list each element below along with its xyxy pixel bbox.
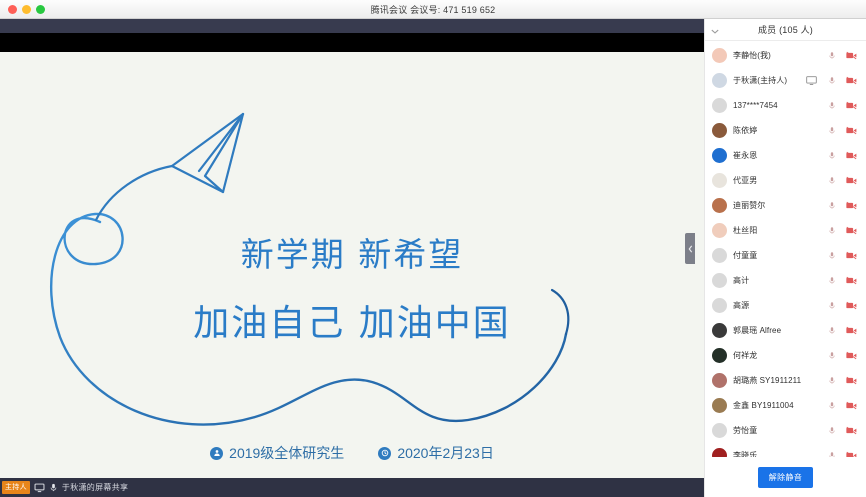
camera-off-icon[interactable] bbox=[846, 125, 857, 136]
camera-off-icon[interactable] bbox=[846, 325, 857, 336]
participant-row[interactable]: 陈依婷 bbox=[705, 118, 866, 143]
microphone-icon bbox=[49, 482, 58, 493]
participant-actions bbox=[826, 300, 860, 311]
participant-row[interactable]: 李晓乐 bbox=[705, 443, 866, 457]
participant-row[interactable]: 劳怡童 bbox=[705, 418, 866, 443]
avatar bbox=[712, 448, 727, 457]
avatar bbox=[712, 148, 727, 163]
paper-plane-icon bbox=[172, 114, 243, 192]
participant-name: 胡璐燕 SY1911211 bbox=[733, 375, 826, 386]
camera-off-icon[interactable] bbox=[846, 375, 857, 386]
participant-name: 付童童 bbox=[733, 250, 826, 261]
participant-actions bbox=[826, 350, 860, 361]
camera-off-icon[interactable] bbox=[846, 300, 857, 311]
participant-name: 于秋潇(主持人) bbox=[733, 75, 806, 86]
participant-actions bbox=[826, 400, 860, 411]
microphone-muted-icon[interactable] bbox=[826, 250, 837, 261]
microphone-muted-icon[interactable] bbox=[826, 200, 837, 211]
avatar bbox=[712, 323, 727, 338]
participant-row[interactable]: 高源 bbox=[705, 293, 866, 318]
share-status-label: 于秋潇的屏幕共享 bbox=[62, 482, 128, 493]
participant-name: 代亚男 bbox=[733, 175, 826, 186]
participant-actions bbox=[826, 125, 860, 136]
participant-name: 高源 bbox=[733, 300, 826, 311]
microphone-muted-icon[interactable] bbox=[826, 100, 837, 111]
participant-actions bbox=[826, 375, 860, 386]
participant-name: 金鑫 BY1911004 bbox=[733, 400, 826, 411]
participant-actions bbox=[806, 75, 860, 86]
participant-actions bbox=[826, 100, 860, 111]
microphone-muted-icon[interactable] bbox=[826, 225, 837, 236]
chevron-down-icon[interactable] bbox=[711, 21, 719, 39]
microphone-muted-icon[interactable] bbox=[826, 125, 837, 136]
share-status-bar: 主持人 于秋潇的屏幕共享 bbox=[0, 478, 704, 497]
avatar bbox=[712, 398, 727, 413]
chevron-left-icon bbox=[688, 245, 693, 253]
video-stage: 新学期 新希望 加油自己 加油中国 2019级全体研究生 bbox=[0, 19, 704, 497]
slide-footer-audience-text: 2019级全体研究生 bbox=[229, 443, 344, 463]
slide-footer-date-text: 2020年2月23日 bbox=[397, 443, 494, 463]
camera-off-icon[interactable] bbox=[846, 50, 857, 61]
monitor-icon bbox=[34, 482, 45, 493]
microphone-muted-icon[interactable] bbox=[826, 150, 837, 161]
participant-row[interactable]: 金鑫 BY1911004 bbox=[705, 393, 866, 418]
participant-actions bbox=[826, 200, 860, 211]
avatar bbox=[712, 423, 727, 438]
microphone-muted-icon[interactable] bbox=[826, 50, 837, 61]
camera-off-icon[interactable] bbox=[846, 75, 857, 86]
participant-actions bbox=[826, 250, 860, 261]
participant-actions bbox=[826, 225, 860, 236]
camera-off-icon[interactable] bbox=[846, 350, 857, 361]
participant-actions bbox=[826, 175, 860, 186]
camera-off-icon[interactable] bbox=[846, 450, 857, 457]
monitor-icon[interactable] bbox=[806, 75, 817, 86]
participant-row[interactable]: 代亚男 bbox=[705, 168, 866, 193]
slide-heading: 新学期 新希望 bbox=[0, 228, 704, 276]
participants-panel-footer: 解除静音 bbox=[705, 457, 866, 497]
participant-row[interactable]: 李静怡(我) bbox=[705, 43, 866, 68]
avatar bbox=[712, 348, 727, 363]
camera-off-icon[interactable] bbox=[846, 100, 857, 111]
avatar bbox=[712, 373, 727, 388]
participant-row[interactable]: 137****7454 bbox=[705, 93, 866, 118]
slide-footer-date: 2020年2月23日 bbox=[378, 443, 494, 463]
window-title: 腾讯会议 会议号: 471 519 652 bbox=[0, 3, 866, 16]
participant-actions bbox=[826, 425, 860, 436]
participant-row[interactable]: 杜丝阳 bbox=[705, 218, 866, 243]
slide-footer-audience: 2019级全体研究生 bbox=[210, 443, 344, 463]
participant-row[interactable]: 何祥龙 bbox=[705, 343, 866, 368]
unmute-all-button[interactable]: 解除静音 bbox=[758, 467, 814, 488]
microphone-muted-icon[interactable] bbox=[826, 425, 837, 436]
participant-row[interactable]: 于秋潇(主持人) bbox=[705, 68, 866, 93]
participant-row[interactable]: 付童童 bbox=[705, 243, 866, 268]
avatar bbox=[712, 298, 727, 313]
title-bar: 腾讯会议 会议号: 471 519 652 bbox=[0, 0, 866, 19]
participant-name: 郭晨瑶 Alfree bbox=[733, 325, 826, 336]
microphone-muted-icon[interactable] bbox=[826, 375, 837, 386]
participant-name: 何祥龙 bbox=[733, 350, 826, 361]
participant-name: 劳怡童 bbox=[733, 425, 826, 436]
camera-off-icon[interactable] bbox=[846, 250, 857, 261]
slide-subheading: 加油自己 加油中国 bbox=[0, 294, 704, 346]
tencent-meeting-window: 腾讯会议 会议号: 471 519 652 bbox=[0, 0, 866, 497]
participant-name: 高计 bbox=[733, 275, 826, 286]
participant-name: 137****7454 bbox=[733, 101, 826, 110]
participant-name: 李静怡(我) bbox=[733, 50, 826, 61]
participant-actions bbox=[826, 150, 860, 161]
participant-actions bbox=[826, 275, 860, 286]
avatar bbox=[712, 123, 727, 138]
participant-name: 李晓乐 bbox=[733, 450, 826, 457]
microphone-muted-icon[interactable] bbox=[826, 350, 837, 361]
avatar bbox=[712, 248, 727, 263]
shared-screen-slide: 新学期 新希望 加油自己 加油中国 2019级全体研究生 bbox=[0, 52, 704, 478]
participants-panel: 成员 (105 人) 李静怡(我)于秋潇(主持人)137****7454陈依婷崔… bbox=[704, 19, 866, 497]
avatar bbox=[712, 48, 727, 63]
participant-row[interactable]: 崔永恩 bbox=[705, 143, 866, 168]
camera-off-icon[interactable] bbox=[846, 425, 857, 436]
camera-off-icon[interactable] bbox=[846, 175, 857, 186]
avatar bbox=[712, 273, 727, 288]
avatar bbox=[712, 73, 727, 88]
camera-off-icon[interactable] bbox=[846, 400, 857, 411]
microphone-muted-icon[interactable] bbox=[826, 400, 837, 411]
microphone-muted-icon[interactable] bbox=[826, 300, 837, 311]
microphone-muted-icon[interactable] bbox=[826, 450, 837, 457]
participant-name: 迪丽赞尔 bbox=[733, 200, 826, 211]
participant-row[interactable]: 郭晨瑶 Alfree bbox=[705, 318, 866, 343]
participant-row[interactable]: 高计 bbox=[705, 268, 866, 293]
avatar bbox=[712, 198, 727, 213]
microphone-muted-icon[interactable] bbox=[826, 175, 837, 186]
participant-actions bbox=[826, 325, 860, 336]
participants-count-title: 成员 (105 人) bbox=[758, 23, 813, 36]
participant-name: 崔永恩 bbox=[733, 150, 826, 161]
slide-footer: 2019级全体研究生 2020年2月23日 bbox=[0, 443, 704, 463]
microphone-muted-icon[interactable] bbox=[826, 325, 837, 336]
participant-row[interactable]: 胡璐燕 SY1911211 bbox=[705, 368, 866, 393]
panel-collapse-handle[interactable] bbox=[685, 233, 695, 264]
camera-off-icon[interactable] bbox=[846, 200, 857, 211]
participant-name: 杜丝阳 bbox=[733, 225, 826, 236]
participant-row[interactable]: 迪丽赞尔 bbox=[705, 193, 866, 218]
participants-list[interactable]: 李静怡(我)于秋潇(主持人)137****7454陈依婷崔永恩代亚男迪丽赞尔杜丝… bbox=[705, 41, 866, 457]
camera-off-icon[interactable] bbox=[846, 225, 857, 236]
participant-actions bbox=[826, 50, 860, 61]
avatar bbox=[712, 173, 727, 188]
avatar bbox=[712, 98, 727, 113]
camera-off-icon[interactable] bbox=[846, 150, 857, 161]
participant-name: 陈依婷 bbox=[733, 125, 826, 136]
host-badge: 主持人 bbox=[2, 481, 30, 494]
participant-actions bbox=[826, 450, 860, 457]
letterbox-top bbox=[0, 33, 704, 52]
microphone-muted-icon[interactable] bbox=[826, 75, 837, 86]
person-icon bbox=[210, 447, 223, 460]
participants-panel-header: 成员 (105 人) bbox=[705, 19, 866, 41]
clock-icon bbox=[378, 447, 391, 460]
microphone-muted-icon[interactable] bbox=[826, 275, 837, 286]
avatar bbox=[712, 223, 727, 238]
camera-off-icon[interactable] bbox=[846, 275, 857, 286]
